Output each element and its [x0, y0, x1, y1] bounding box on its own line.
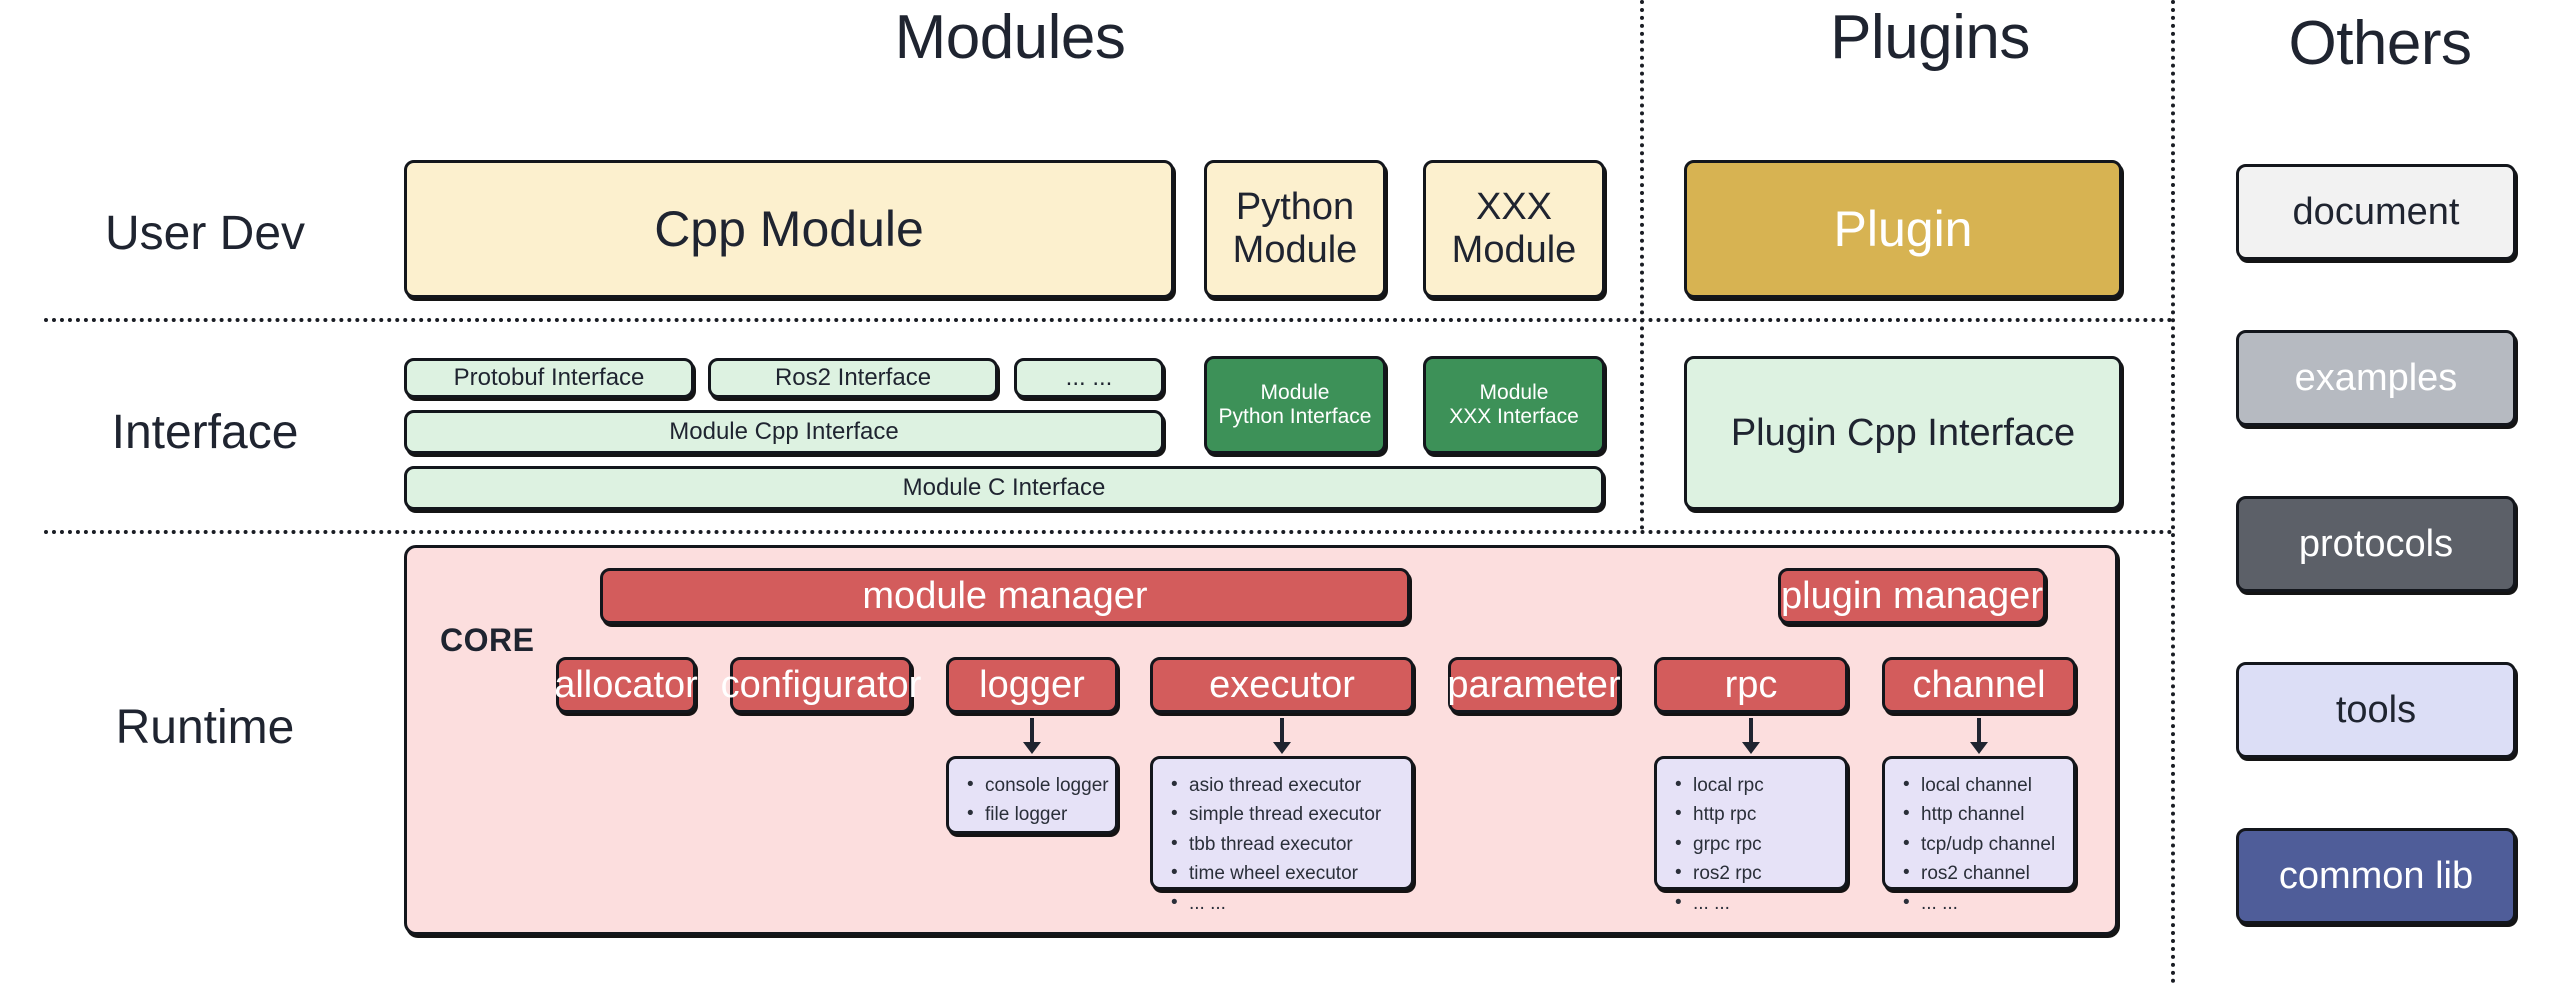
others-item-protocols[interactable]: protocols — [2236, 496, 2516, 592]
list-item: ... ... — [1169, 889, 1397, 918]
list-item: ... ... — [1673, 889, 1831, 918]
row-label-interface: Interface — [30, 405, 380, 460]
others-item-document[interactable]: document — [2236, 164, 2516, 260]
xxx-module-label-line1: XXX — [1476, 186, 1552, 229]
architecture-diagram: Modules Plugins Others User Dev Interfac… — [0, 0, 2560, 984]
others-item-tools[interactable]: tools — [2236, 662, 2516, 758]
logger-box[interactable]: logger — [946, 657, 1118, 713]
channel-details-box: local channel http channel tcp/udp chann… — [1882, 756, 2076, 890]
channel-details-list: local channel http channel tcp/udp chann… — [1901, 771, 2059, 918]
xxx-module-label-line2: Module — [1452, 229, 1577, 272]
protobuf-interface-box[interactable]: Protobuf Interface — [404, 358, 694, 398]
module-c-interface-box[interactable]: Module C Interface — [404, 466, 1604, 510]
plugin-cpp-interface-box[interactable]: Plugin Cpp Interface — [1684, 356, 2122, 510]
module-python-interface-line1: Module — [1261, 381, 1330, 405]
column-header-plugins: Plugins — [1700, 2, 2160, 73]
parameter-box[interactable]: parameter — [1448, 657, 1620, 713]
list-item: local rpc — [1673, 771, 1831, 800]
plugin-box[interactable]: Plugin — [1684, 160, 2122, 298]
module-cpp-interface-box[interactable]: Module Cpp Interface — [404, 410, 1164, 454]
list-item: grpc rpc — [1673, 830, 1831, 859]
channel-box[interactable]: channel — [1882, 657, 2076, 713]
executor-box[interactable]: executor — [1150, 657, 1414, 713]
xxx-module-box[interactable]: XXX Module — [1423, 160, 1605, 298]
allocator-box[interactable]: allocator — [556, 657, 696, 713]
list-item: file logger — [965, 800, 1101, 829]
row-label-user-dev: User Dev — [30, 206, 380, 261]
list-item: console logger — [965, 771, 1101, 800]
module-xxx-interface-line2: XXX Interface — [1449, 405, 1579, 429]
list-item: ros2 rpc — [1673, 859, 1831, 888]
divider-userdev-interface — [44, 318, 2174, 322]
logger-details-box: console logger file logger — [946, 756, 1118, 834]
ros2-interface-box[interactable]: Ros2 Interface — [708, 358, 998, 398]
divider-modules-plugins — [1640, 0, 1644, 530]
list-item: time wheel executor — [1169, 859, 1397, 888]
list-item: simple thread executor — [1169, 800, 1397, 829]
python-module-label-line1: Python — [1236, 186, 1354, 229]
python-module-box[interactable]: Python Module — [1204, 160, 1386, 298]
python-module-label-line2: Module — [1233, 229, 1358, 272]
etc-interface-box[interactable]: ... ... — [1014, 358, 1164, 398]
arrow-down-icon-rpc — [1738, 718, 1764, 754]
arrow-down-icon-logger — [1019, 718, 1045, 754]
module-python-interface-box[interactable]: Module Python Interface — [1204, 356, 1386, 454]
list-item: ros2 channel — [1901, 859, 2059, 888]
rpc-details-box: local rpc http rpc grpc rpc ros2 rpc ...… — [1654, 756, 1848, 890]
others-item-common-lib[interactable]: common lib — [2236, 828, 2516, 924]
module-xxx-interface-box[interactable]: Module XXX Interface — [1423, 356, 1605, 454]
list-item: ... ... — [1901, 889, 2059, 918]
module-python-interface-line2: Python Interface — [1219, 405, 1372, 429]
configurator-box[interactable]: configurator — [730, 657, 912, 713]
divider-plugins-others — [2171, 0, 2175, 984]
list-item: asio thread executor — [1169, 771, 1397, 800]
module-xxx-interface-line1: Module — [1480, 381, 1549, 405]
cpp-module-box[interactable]: Cpp Module — [404, 160, 1174, 298]
logger-details-list: console logger file logger — [965, 771, 1101, 830]
list-item: local channel — [1901, 771, 2059, 800]
module-manager-box[interactable]: module manager — [600, 568, 1410, 624]
executor-details-box: asio thread executor simple thread execu… — [1150, 756, 1414, 890]
row-label-runtime: Runtime — [30, 700, 380, 755]
list-item: http channel — [1901, 800, 2059, 829]
list-item: http rpc — [1673, 800, 1831, 829]
column-header-others: Others — [2200, 8, 2560, 79]
rpc-details-list: local rpc http rpc grpc rpc ros2 rpc ...… — [1673, 771, 1831, 918]
list-item: tcp/udp channel — [1901, 830, 2059, 859]
core-label: CORE — [440, 622, 534, 659]
rpc-box[interactable]: rpc — [1654, 657, 1848, 713]
arrow-down-icon-executor — [1269, 718, 1295, 754]
divider-interface-runtime — [44, 530, 2174, 534]
column-header-modules: Modules — [760, 2, 1260, 73]
list-item: tbb thread executor — [1169, 830, 1397, 859]
others-item-examples[interactable]: examples — [2236, 330, 2516, 426]
plugin-manager-box[interactable]: plugin manager — [1778, 568, 2046, 624]
executor-details-list: asio thread executor simple thread execu… — [1169, 771, 1397, 918]
arrow-down-icon-channel — [1966, 718, 1992, 754]
